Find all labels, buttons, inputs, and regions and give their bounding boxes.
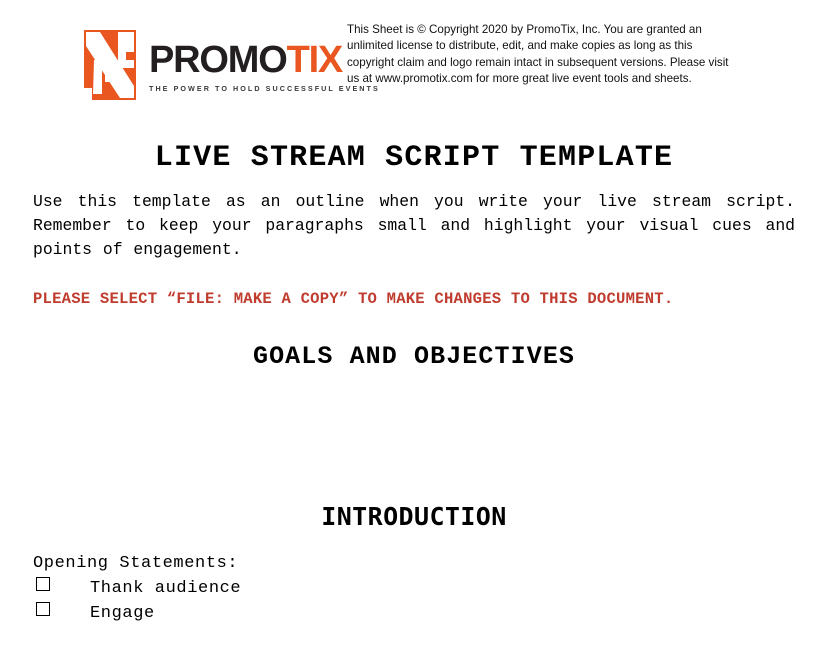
list-item-label: Engage xyxy=(90,602,155,627)
section-heading-introduction: INTRODUCTION xyxy=(33,500,795,534)
brand-wordmark: PROMOTIX THE POWER TO HOLD SUCCESSFUL EV… xyxy=(149,37,380,94)
intro-paragraph: Use this template as an outline when you… xyxy=(33,190,795,262)
list-item-label: Thank audience xyxy=(90,577,241,602)
document-page: PROMOTIX THE POWER TO HOLD SUCCESSFUL EV… xyxy=(0,0,828,665)
brand-name-accent: TIX xyxy=(287,39,343,81)
intro-line: Use this template as an outline when you… xyxy=(33,190,795,214)
copyright-notice: This Sheet is © Copyright 2020 by PromoT… xyxy=(347,22,741,88)
section-heading-goals: GOALS AND OBJECTIVES xyxy=(33,340,795,374)
brand-tagline: THE POWER TO HOLD SUCCESSFUL EVENTS xyxy=(149,84,380,93)
promotix-logo-mark-icon xyxy=(84,30,136,100)
opening-statements-label: Opening Statements: xyxy=(33,551,795,577)
list-item[interactable]: Thank audience xyxy=(33,577,795,602)
goals-content-area[interactable] xyxy=(33,374,795,500)
page-title: LIVE STREAM SCRIPT TEMPLATE xyxy=(33,138,795,178)
brand-name-primary: PROMO xyxy=(149,39,287,81)
list-item[interactable]: Engage xyxy=(33,602,795,627)
intro-line: Remember to keep your paragraphs small a… xyxy=(33,214,795,238)
document-header: PROMOTIX THE POWER TO HOLD SUCCESSFUL EV… xyxy=(0,22,828,114)
opening-statements-list: Thank audience Engage xyxy=(33,577,795,626)
brand-logo: PROMOTIX THE POWER TO HOLD SUCCESSFUL EV… xyxy=(84,30,380,100)
document-body: LIVE STREAM SCRIPT TEMPLATE Use this tem… xyxy=(33,138,795,626)
intro-line: points of engagement. xyxy=(33,238,795,262)
copy-document-notice: PLEASE SELECT “FILE: MAKE A COPY” TO MAK… xyxy=(33,288,795,310)
empty-checkbox-icon[interactable] xyxy=(36,602,50,616)
brand-name: PROMOTIX xyxy=(149,43,380,78)
empty-checkbox-icon[interactable] xyxy=(36,577,50,591)
